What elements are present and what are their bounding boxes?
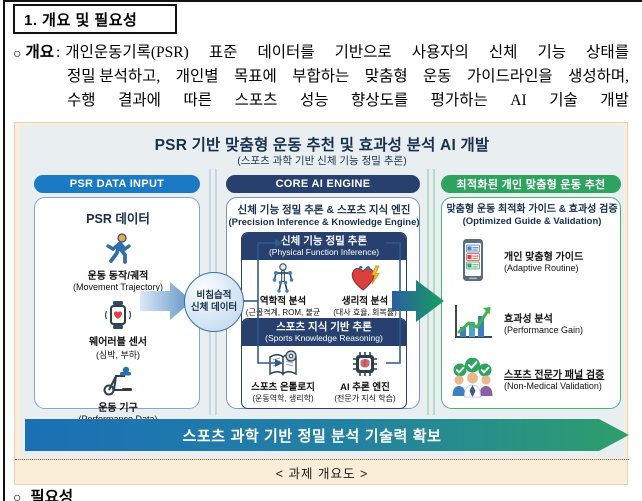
hub-noninvasive-data: 비침습적 신체 데이터	[184, 272, 244, 332]
page-top-rule	[3, 0, 642, 2]
figure-canvas: PSR 기반 맞춤형 운동 추천 및 효과성 분석 AI 개발 (스포츠 과학 …	[20, 125, 624, 458]
overview-text-line-1: 개인운동기록(PSR)표준데이터를기반으로사용자의신체기능상태를	[65, 41, 629, 65]
hub-label-line1: 비침습적	[197, 290, 232, 301]
page-left-rule	[3, 0, 5, 501]
document-page: 1. 개요 및 필요성 ○ 개요 : 개인운동기록(PSR)표준데이터를기반으로…	[0, 0, 642, 501]
overview-colon: :	[56, 41, 60, 65]
overview-label: 개요	[25, 41, 54, 65]
overview-paragraph: ○ 개요 : 개인운동기록(PSR)표준데이터를기반으로사용자의신체기능상태를 …	[13, 41, 629, 113]
diagram-connectors	[20, 125, 624, 458]
section-heading-box: 1. 개요 및 필요성	[13, 4, 177, 34]
hub-label-line2: 신체 데이터	[191, 302, 237, 313]
overview-line-2: 정밀 분석하고,개인별목표에부합하는맞춤형운동가이드라인을생성하며,	[13, 65, 629, 89]
figure-caption: < 과제 개요도 >	[15, 463, 629, 482]
overview-text-line-3: 수행결과에따른스포츠성능향상도를평가하는AI기술개발	[67, 89, 629, 113]
overview-line-1: ○ 개요 : 개인운동기록(PSR)표준데이터를기반으로사용자의신체기능상태를	[13, 41, 629, 65]
next-section-bullet-icon: ○	[13, 489, 21, 501]
overview-text-line-2: 정밀 분석하고,개인별목표에부합하는맞춤형운동가이드라인을생성하며,	[67, 65, 629, 89]
figure-frame: PSR 기반 맞춤형 운동 추천 및 효과성 분석 AI 개발 (스포츠 과학 …	[14, 122, 628, 485]
hub-label: 비침습적 신체 데이터	[191, 290, 237, 314]
overview-line-3: 수행결과에따른스포츠성능향상도를평가하는AI기술개발	[13, 89, 629, 113]
section-heading-text: 1. 개요 및 필요성	[15, 9, 137, 30]
next-section-partial: ○ 필요성	[13, 487, 73, 501]
next-section-label: 필요성	[30, 489, 73, 501]
caption-divider	[15, 459, 629, 460]
overview-bullet-icon: ○	[13, 41, 21, 65]
